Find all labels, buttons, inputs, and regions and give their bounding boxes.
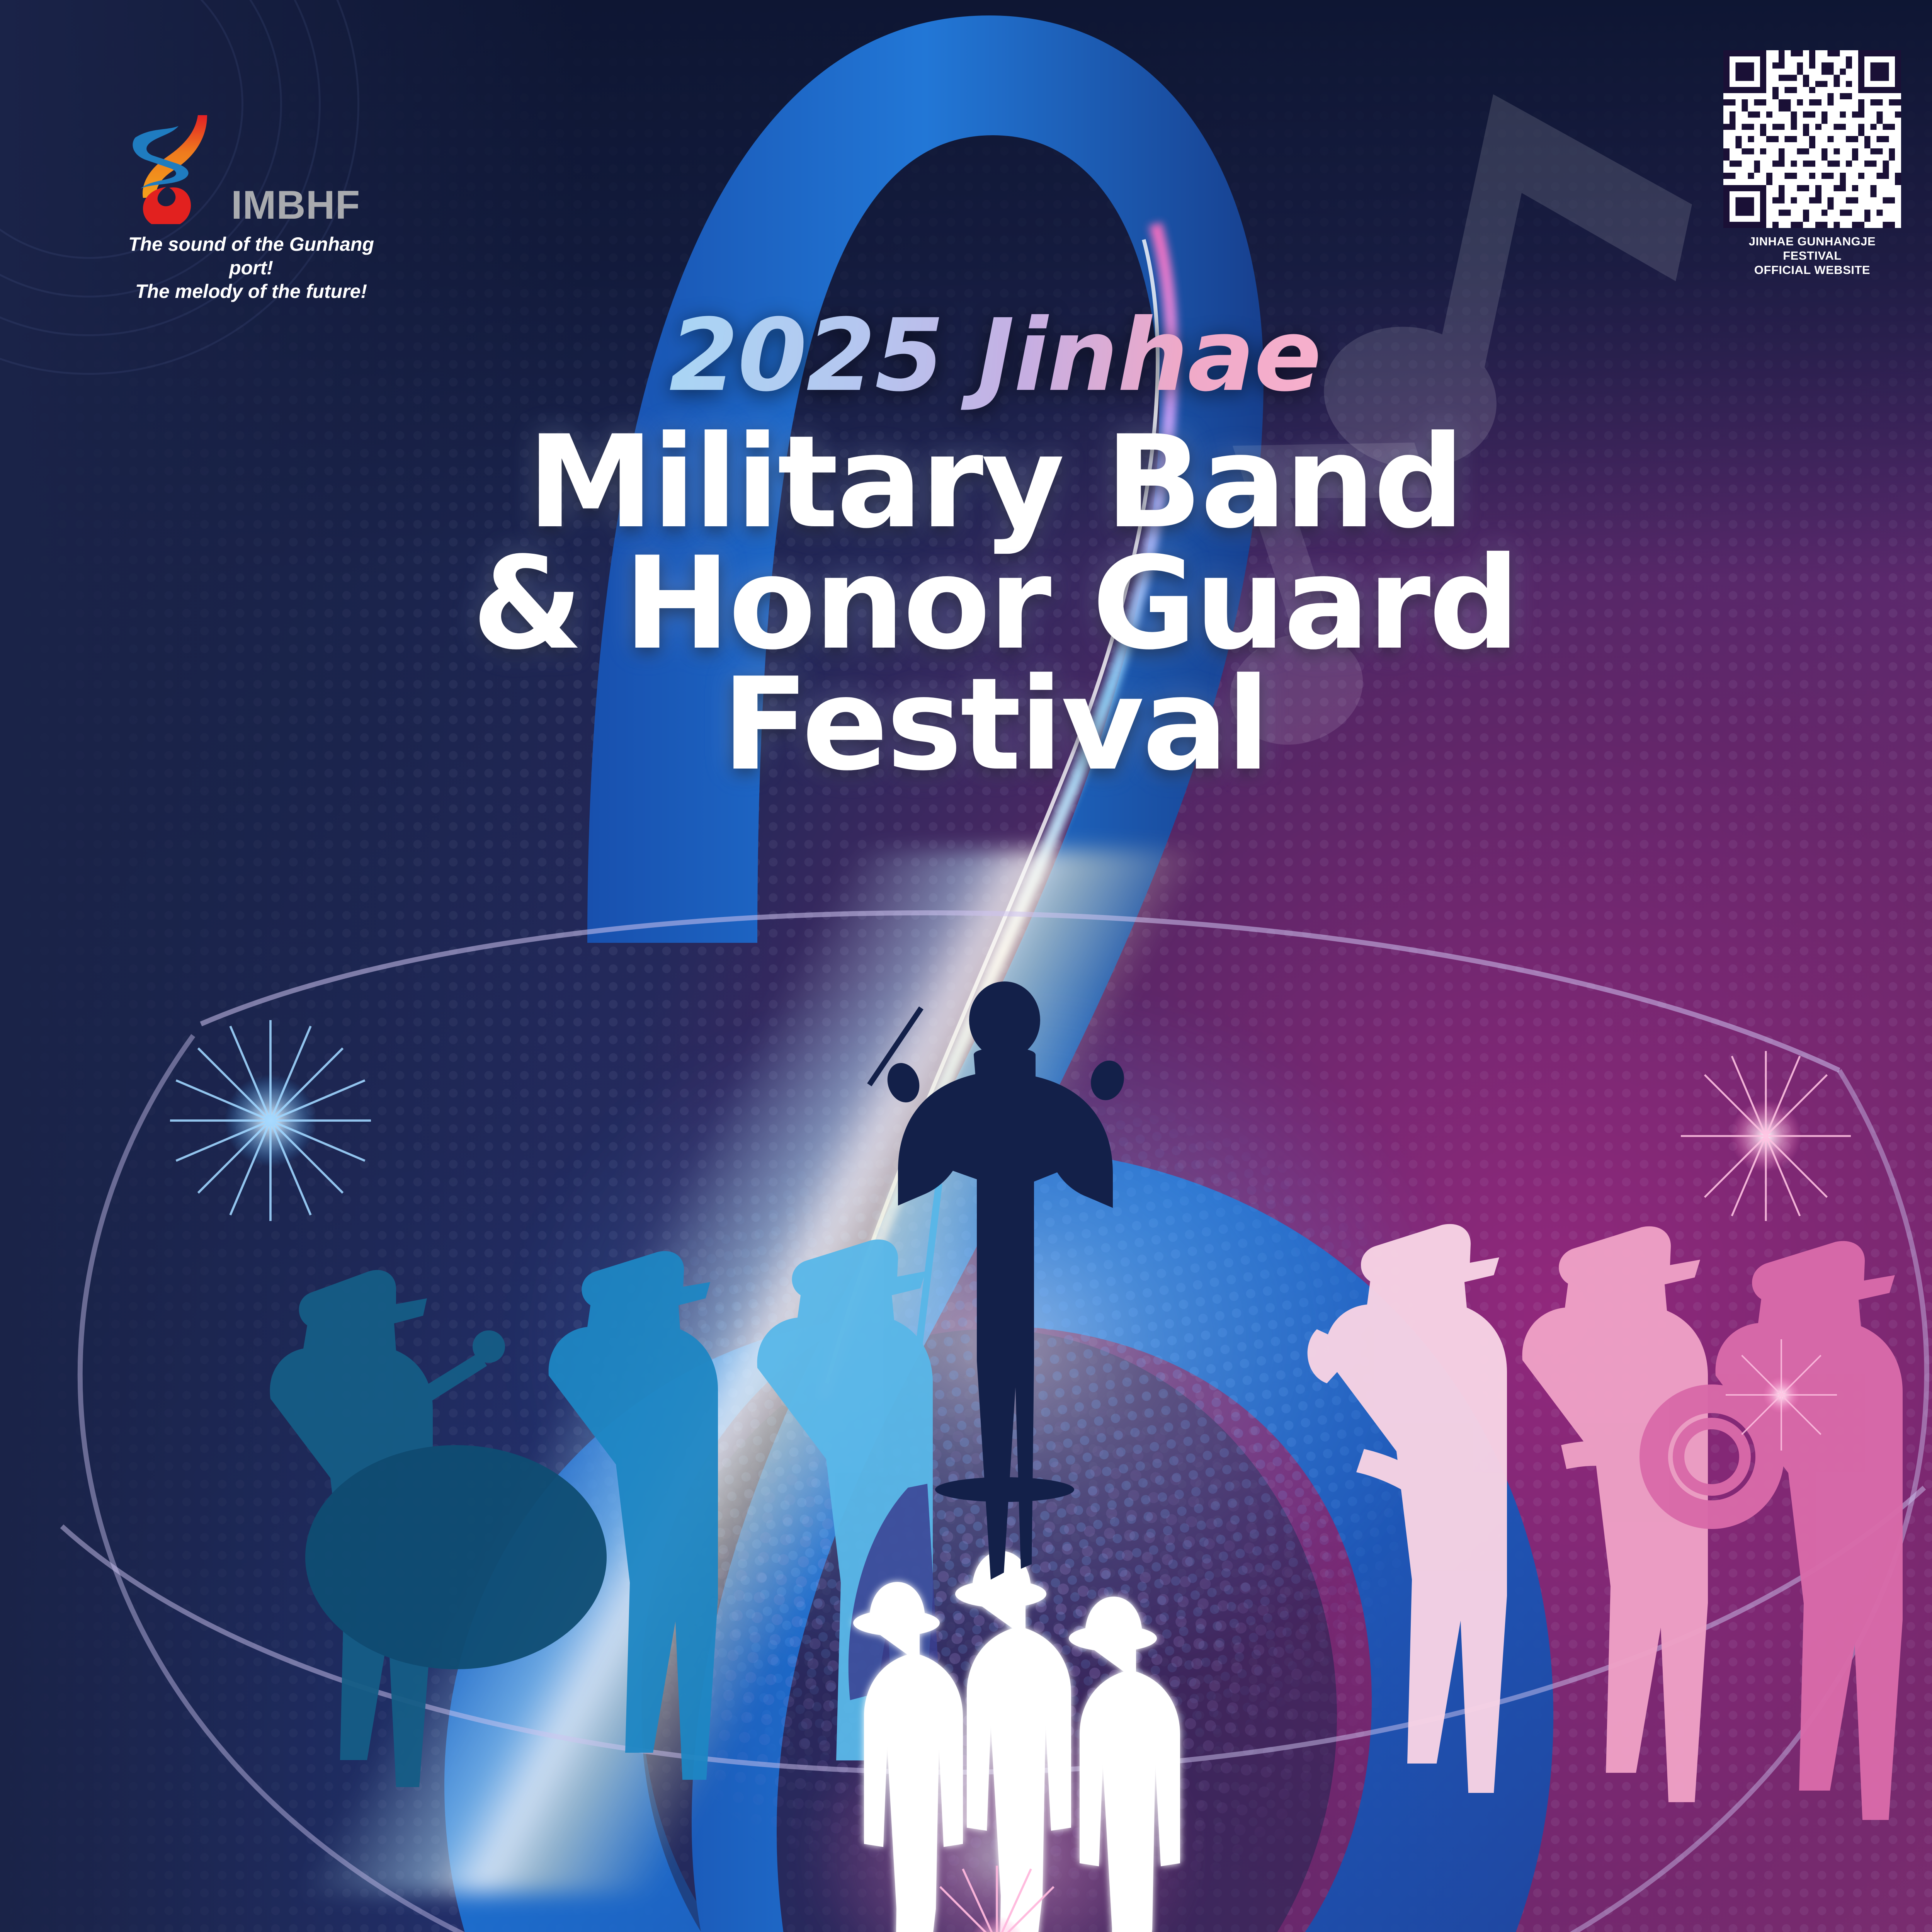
imbhf-acronym: IMBHF (231, 187, 360, 224)
main-title: Military Band & Honor Guard Festival (0, 422, 1932, 786)
qr-code-icon[interactable] (1723, 50, 1901, 228)
honor-guard-figures (853, 1551, 1180, 1932)
imbhf-tagline: The sound of the Gunhang port! The melod… (128, 233, 375, 303)
honor-guard-right (1069, 1597, 1180, 1932)
qr-caption-line-2: OFFICIAL WEBSITE (1723, 263, 1901, 277)
pink-musician-saxophonist (1308, 1224, 1507, 1793)
qr-caption: JINHAE GUNHANGJE FESTIVAL OFFICIAL WEBSI… (1723, 234, 1901, 277)
imbhf-logo-block: IMBHF The sound of the Gunhang port! The… (128, 112, 421, 303)
silhouette-figures-group (0, 966, 1932, 1932)
imbhf-music-swirl-logo (128, 112, 224, 224)
tagline-line-1: The sound of the Gunhang port! (128, 233, 375, 280)
year-line: 2025 Jinhae (669, 298, 1321, 413)
qr-block[interactable]: JINHAE GUNHANGJE FESTIVAL OFFICIAL WEBSI… (1723, 50, 1901, 277)
festival-poster: IMBHF The sound of the Gunhang port! The… (0, 0, 1932, 1932)
title-line-3: Festival (0, 664, 1932, 786)
title-line-2: & Honor Guard (0, 543, 1932, 665)
title-block: 2025 Jinhae Military Band & Honor Guard … (0, 298, 1932, 786)
honor-guard-center (955, 1551, 1071, 1932)
qr-caption-line-1: JINHAE GUNHANGJE FESTIVAL (1723, 234, 1901, 263)
